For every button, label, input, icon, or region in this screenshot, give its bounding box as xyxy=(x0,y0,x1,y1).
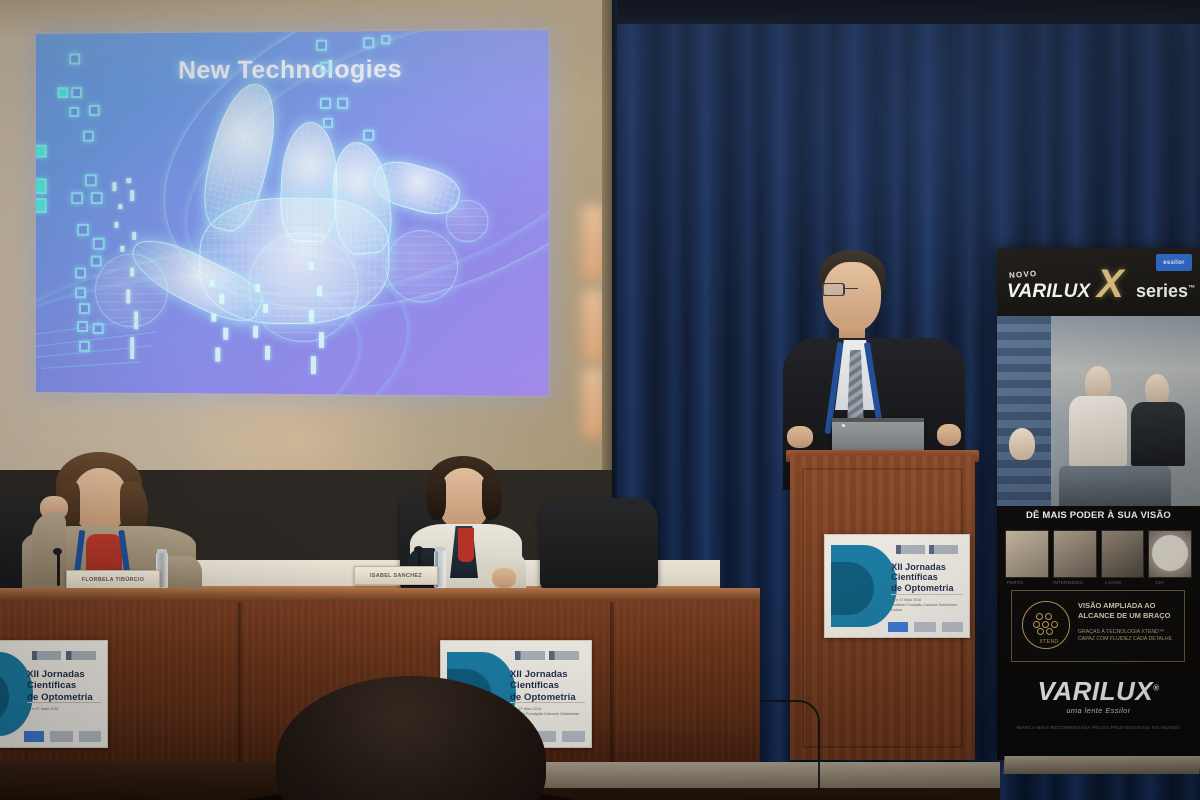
sign-institution-logos xyxy=(896,543,962,555)
banner-thumbnail-clock xyxy=(1148,530,1192,578)
wall-light-patch xyxy=(582,206,604,280)
sign-sub-line-2: Auditório Fundação Calouste Gulbenkian ·… xyxy=(891,603,963,612)
slide-pixel xyxy=(223,328,228,340)
callout-sub-1: GRAÇAS À TECNOLOGIA XTEND™ xyxy=(1078,629,1180,636)
slide-square xyxy=(91,192,103,204)
glasses-bridge xyxy=(845,288,858,289)
panelist-hair-side xyxy=(426,478,446,520)
slide-square xyxy=(69,53,80,64)
slide-square xyxy=(89,105,100,116)
sign-sponsor-logos xyxy=(888,618,963,632)
slide-square xyxy=(83,131,94,142)
banner-brand-label: VARILUX xyxy=(1007,281,1090,303)
slide-pixel xyxy=(263,304,268,313)
nameplate-text: ISABEL SANCHEZ xyxy=(370,573,422,579)
slide-square xyxy=(363,37,374,48)
sign-sub-line-1: 26 e 27 Maio 2018 xyxy=(27,707,101,712)
nameplate-isabel: ISABEL SANCHEZ xyxy=(354,566,438,585)
institution-logo xyxy=(896,545,925,554)
table-microphone-stand xyxy=(57,552,60,586)
banner-brand-tm: ® xyxy=(1153,683,1159,692)
slide-square xyxy=(69,107,79,117)
slide-square xyxy=(71,87,82,98)
slide-pixel xyxy=(118,204,122,209)
speaker-hand-right xyxy=(937,424,961,446)
banner-thumbnail xyxy=(1053,530,1097,578)
slide-pixel xyxy=(319,332,324,348)
slide-pixel xyxy=(126,178,131,183)
slide-pixel xyxy=(211,314,216,322)
slide-pixel xyxy=(209,280,214,287)
sign-institution-logos xyxy=(32,649,100,662)
nameplate-florbela: FLORBELA TIBÚRCIO xyxy=(66,570,160,590)
slide-square xyxy=(36,178,47,194)
banner-tagline: uma lente Essilor xyxy=(997,706,1200,715)
sign-title: XII Jornadas Científicas de Optometria xyxy=(891,562,963,595)
slide-pixel xyxy=(311,356,316,374)
banner-person-body xyxy=(999,456,1051,506)
banner-slogan: DÊ MAIS PODER À SUA VISÃO xyxy=(997,510,1200,521)
slide-pixel xyxy=(130,268,134,277)
institution-logo xyxy=(549,651,579,660)
sign-subtitle: 26 e 27 Maio 2018 Auditório Fundação Cal… xyxy=(891,598,963,612)
slide-square xyxy=(75,267,86,278)
nameplate-text: FLORBELA TIBÚRCIO xyxy=(82,577,145,583)
banner-brand-large: VARILUX® xyxy=(997,676,1200,707)
slide-square xyxy=(91,256,102,267)
slide-pixel xyxy=(253,326,258,338)
banner-fine-print: MARCA MAIS RECOMENDADA PELOS PROFISSIONA… xyxy=(997,726,1200,731)
slide-pixel xyxy=(265,346,270,360)
slide-square xyxy=(316,40,327,51)
front-table-top xyxy=(0,588,760,602)
banner-thumbnail-row xyxy=(1005,530,1192,578)
laptop-lid-edge xyxy=(832,418,924,422)
slide-pixel xyxy=(130,190,134,201)
banner-series-text: series xyxy=(1136,281,1188,301)
sponsor-logo xyxy=(942,622,964,632)
banner-x-mark: X xyxy=(1097,264,1124,304)
banner-desk xyxy=(1059,466,1171,506)
sign-title: XII Jornadas Científicas de Optometria xyxy=(27,669,101,704)
slide-square xyxy=(381,35,390,44)
banner-thumb-label: INTERMÉDIO xyxy=(1053,580,1083,585)
banner-thumb-label: 24H xyxy=(1155,580,1164,585)
essilor-logo-badge: essilor xyxy=(1156,254,1192,271)
speaker-head xyxy=(823,262,881,332)
banner-person-head xyxy=(1085,366,1111,400)
panelist-scarf xyxy=(458,528,474,562)
banner-callout-heading: VISÃO AMPLIADA AO ALCANCE DE UM BRAÇO xyxy=(1078,601,1180,621)
slide-pixel xyxy=(219,294,224,304)
empty-chair xyxy=(540,498,658,590)
sponsor-logo xyxy=(79,731,101,741)
sign-subtitle: 26 e 27 Maio 2018 xyxy=(27,707,101,712)
callout-line-1: VISÃO AMPLIADA AO xyxy=(1078,601,1180,611)
sign-divider xyxy=(27,702,101,703)
slide-square xyxy=(320,62,330,72)
sign-divider xyxy=(510,702,585,703)
bottle-cap xyxy=(435,547,445,551)
panelist-arm xyxy=(32,512,66,584)
institution-logo xyxy=(66,651,96,660)
slide-square xyxy=(36,198,47,213)
varilux-rollup-banner: essilor NOVO VARILUX X series™ DÊ MAIS P… xyxy=(997,248,1200,760)
sign-institution-logos xyxy=(515,649,584,662)
sign-title-line-1: XII Jornadas xyxy=(27,669,101,681)
banner-brand-large-text: VARILUX xyxy=(1037,676,1153,706)
slide-square xyxy=(93,238,105,250)
slide-pixel xyxy=(255,284,260,292)
slide-square xyxy=(71,192,83,204)
sign-title-line-2: Científicas xyxy=(891,572,963,583)
slide-pixel xyxy=(317,286,322,296)
banner-person-body xyxy=(1069,396,1127,466)
banner-series-tm: ™ xyxy=(1188,285,1195,292)
sign-title: XII Jornadas Científicas de Optometria xyxy=(510,669,585,704)
conference-sign-table-left: XII Jornadas Científicas de Optometria 2… xyxy=(0,640,108,748)
xtend-dots xyxy=(1033,613,1059,637)
laptop-indicator-light xyxy=(842,424,845,427)
slide-square xyxy=(77,224,89,236)
institution-logo xyxy=(515,651,545,660)
institution-logo xyxy=(929,545,958,554)
slide-pixel xyxy=(114,222,118,228)
sponsor-logo xyxy=(50,731,72,741)
banner-thumbnail xyxy=(1101,530,1145,578)
slide-square xyxy=(75,287,86,298)
sign-title-line-1: XII Jornadas xyxy=(510,669,585,681)
callout-sub-2: CAPAZ COM FLUIDEZ CADA DETALHE xyxy=(1078,636,1180,643)
callout-line-2: ALCANCE DE UM BRAÇO xyxy=(1078,611,1180,621)
xtend-label: XTEND xyxy=(1029,639,1069,645)
sponsor-logo xyxy=(914,622,936,632)
slide-pixel xyxy=(215,348,220,362)
sponsor-logo-primary xyxy=(888,622,907,632)
sponsor-logo xyxy=(562,731,585,741)
wall-light-patch xyxy=(582,290,604,362)
banner-base-foot xyxy=(1004,756,1200,774)
projection-screen: New Technologies xyxy=(36,30,549,396)
table-panel-seam xyxy=(238,602,242,762)
sign-divider xyxy=(891,594,963,595)
wall-light-patch xyxy=(582,368,604,438)
institution-logo xyxy=(32,651,62,660)
table-microphone xyxy=(53,548,62,555)
slide-pixel xyxy=(112,182,116,191)
glasses-icon xyxy=(822,283,882,296)
slide-pixel xyxy=(126,289,130,303)
curtain-valance xyxy=(612,0,1200,24)
slide-pixel xyxy=(132,232,136,240)
sign-title-line-2: Científicas xyxy=(510,680,585,692)
panelist-hand xyxy=(492,568,516,588)
sign-title-line-2: Científicas xyxy=(27,680,101,692)
sign-sponsor-logos xyxy=(24,727,101,742)
slide-pixel xyxy=(309,262,314,270)
speaker-hand-left xyxy=(787,426,813,448)
table-microphone xyxy=(414,546,423,553)
slide-square xyxy=(36,145,47,158)
slide-pixel xyxy=(309,310,314,322)
panelist-hair-side xyxy=(482,478,502,520)
floor-cable xyxy=(760,700,820,790)
sign-title-line-1: XII Jornadas xyxy=(891,562,963,573)
conference-photo: New Technologies xyxy=(0,0,1200,800)
sponsor-logo-primary xyxy=(24,731,44,741)
banner-photo xyxy=(997,316,1200,506)
slide-square xyxy=(85,174,97,186)
table-panel-seam xyxy=(610,602,614,762)
slide-wireframe-hand xyxy=(174,79,495,361)
banner-thumbnail xyxy=(1005,530,1049,578)
slide-square xyxy=(57,87,68,98)
banner-callout-sub: GRAÇAS À TECNOLOGIA XTEND™ CAPAZ COM FLU… xyxy=(1078,629,1180,644)
banner-callout-box: XTEND VISÃO AMPLIADA AO ALCANCE DE UM BR… xyxy=(1011,590,1185,662)
sign-title-line-3: de Optometria xyxy=(891,583,963,594)
banner-thumb-label: PERTO xyxy=(1007,580,1023,585)
slide-square xyxy=(79,303,90,314)
banner-thumb-label: LONGE xyxy=(1105,580,1122,585)
bottle-cap xyxy=(157,549,167,553)
slide-pixel xyxy=(120,246,124,252)
banner-person-body xyxy=(1131,402,1185,466)
conference-sign-podium: XII Jornadas Científicas de Optometria 2… xyxy=(824,534,970,638)
slide-square xyxy=(79,341,90,352)
banner-series-label: series™ xyxy=(1136,281,1195,302)
xtend-logo-icon: XTEND xyxy=(1022,601,1070,649)
